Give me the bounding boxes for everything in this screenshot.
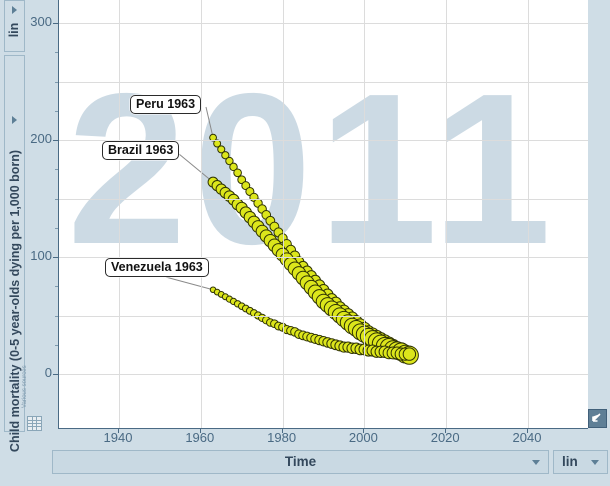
x-axis-tick-mark [527, 428, 528, 433]
trail-label-venezuela[interactable]: Venezuela 1963 [105, 258, 209, 277]
gridline-vertical [283, 0, 284, 428]
y-axis-tick-mark [53, 140, 58, 141]
label-leader-line [179, 154, 213, 182]
x-axis-tick-mark [445, 428, 446, 433]
x-axis-scale-label: lin [562, 454, 578, 469]
x-axis-tick-mark [200, 428, 201, 433]
y-axis-title: Child mortality (0-5 year-olds dying per… [8, 116, 26, 486]
x-axis-tick-mark [363, 428, 364, 433]
bubble-trails [59, 0, 588, 428]
chevron-down-icon [591, 460, 599, 465]
y-axis-tick-mark [53, 23, 58, 24]
gridline-horizontal [59, 23, 588, 24]
x-axis-scale-button[interactable]: lin [553, 450, 608, 474]
gridline-horizontal [59, 374, 588, 375]
bubble-point[interactable] [403, 348, 415, 360]
data-table-icon[interactable] [27, 416, 42, 431]
gridline-vertical [446, 0, 447, 428]
y-axis-minor-tick [55, 199, 58, 200]
gridline-vertical [201, 0, 202, 428]
y-axis-minor-tick [55, 82, 58, 83]
gridline-vertical [528, 0, 529, 428]
trail-label-peru[interactable]: Peru 1963 [130, 95, 201, 114]
x-axis-tick-mark [118, 428, 119, 433]
trail-label-brazil[interactable]: Brazil 1963 [102, 141, 179, 160]
gridline-vertical [364, 0, 365, 428]
x-axis-tick-mark [282, 428, 283, 433]
y-axis-tick-mark [53, 374, 58, 375]
y-axis-minor-tick [55, 228, 58, 229]
chart-plot-area[interactable]: 2011 [58, 0, 588, 429]
source-text: Various sources [22, 348, 34, 408]
gridline-horizontal [59, 316, 588, 317]
y-axis-minor-tick [55, 52, 58, 53]
gridline-horizontal [59, 82, 588, 83]
gridline-horizontal [59, 199, 588, 200]
y-axis-scale-button[interactable]: lin [4, 0, 25, 52]
chevron-down-icon [532, 460, 540, 465]
y-axis-minor-tick [55, 316, 58, 317]
y-axis-tick-mark [53, 257, 58, 258]
label-leader-line [206, 107, 213, 138]
source-note: Various sources [26, 348, 40, 410]
x-axis-title: Time [53, 454, 548, 469]
y-axis-minor-tick [55, 169, 58, 170]
expand-chart-handle[interactable] [588, 409, 607, 428]
y-axis-minor-tick [55, 286, 58, 287]
gridline-vertical [119, 0, 120, 428]
y-axis-minor-tick [55, 345, 58, 346]
y-axis-scale-label: lin [7, 13, 23, 47]
y-axis-minor-tick [55, 111, 58, 112]
x-axis-indicator-button[interactable]: Time [52, 450, 549, 474]
bubble-point[interactable] [234, 169, 242, 177]
